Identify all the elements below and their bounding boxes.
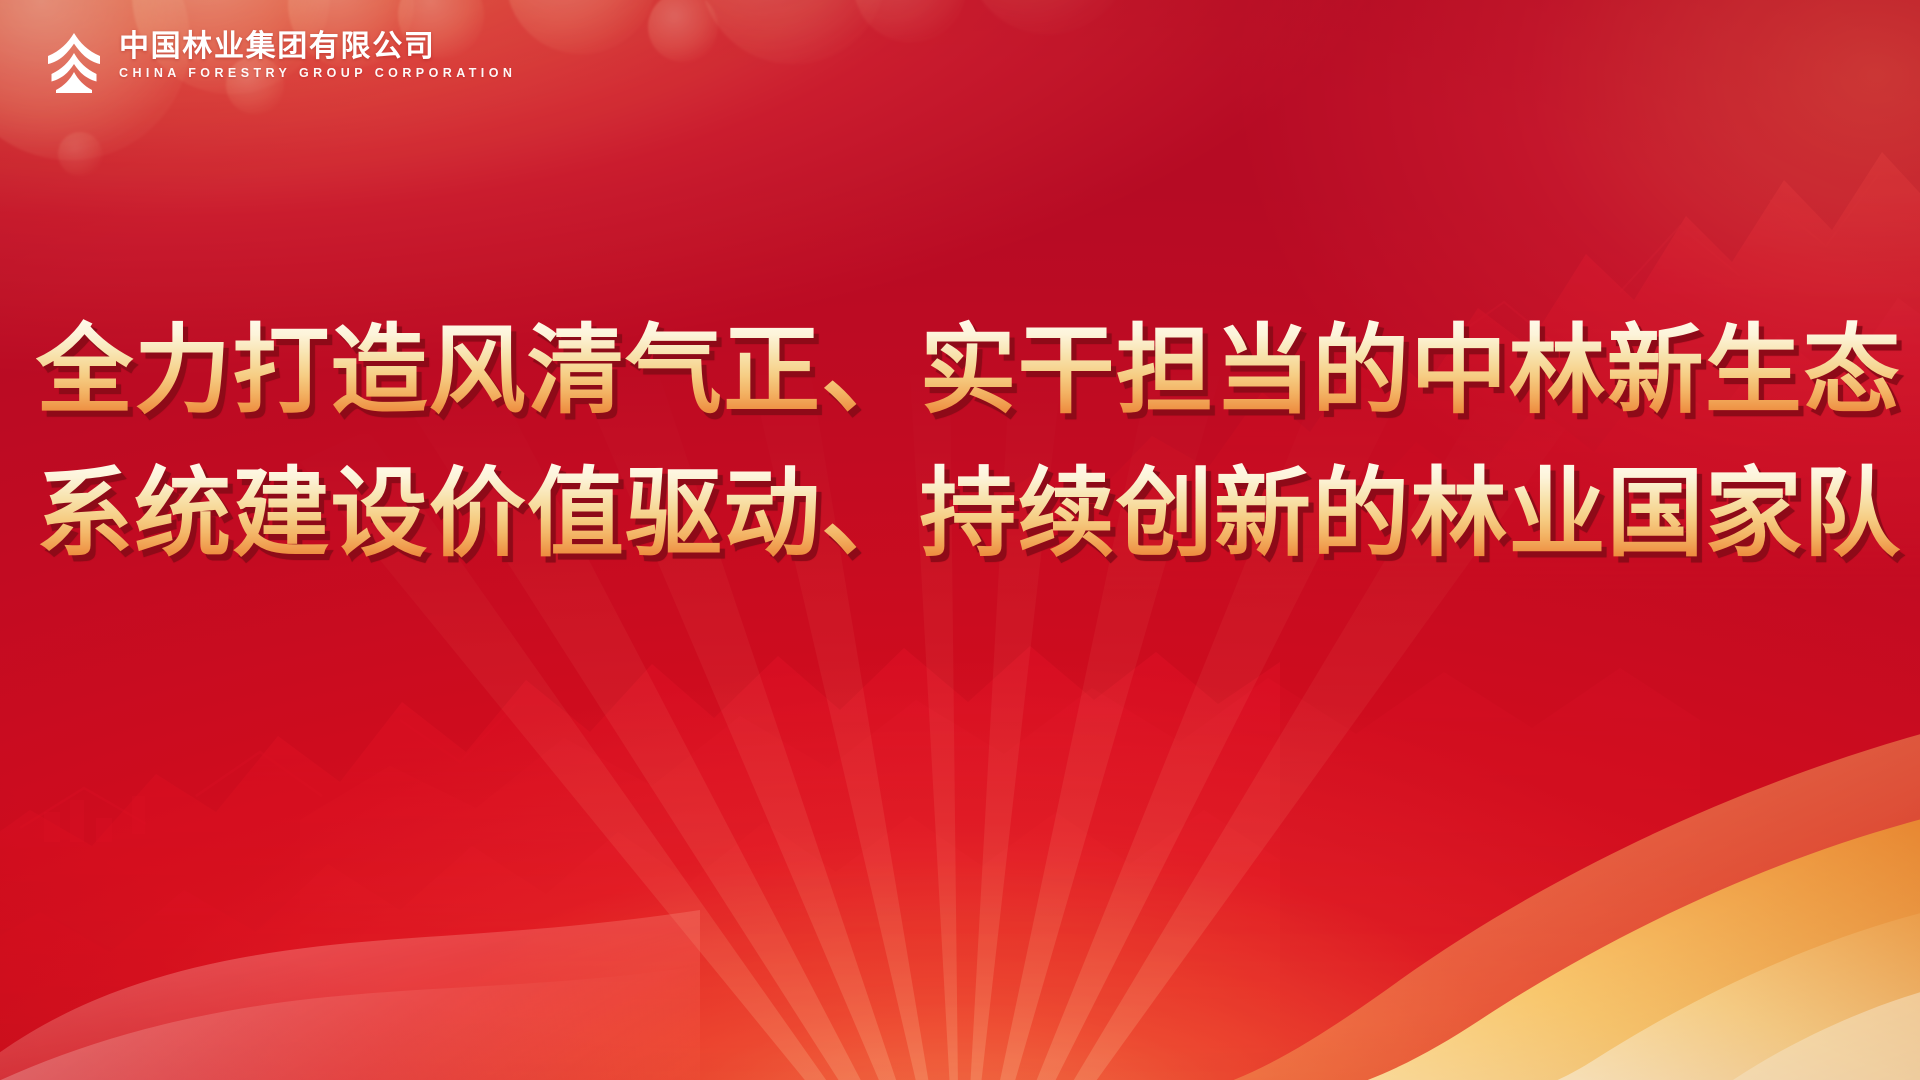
forestry-pagoda-tree-logo-icon — [44, 31, 104, 95]
slogan-line-2: 系统建设价值驱动、持续创新的林业国家队 系统建设价值驱动、持续创新的林业国家队 — [36, 443, 1884, 586]
slogan-headline: 全力打造风清气正、实干担当的中林新生态 全力打造风清气正、实干担当的中林新生态 … — [0, 300, 1920, 585]
slogan-line-1: 全力打造风清气正、实干担当的中林新生态 全力打造风清气正、实干担当的中林新生态 — [36, 300, 1884, 443]
slogan-line-2-text: 系统建设价值驱动、持续创新的林业国家队 — [36, 457, 1901, 570]
slogan-line-1-text: 全力打造风清气正、实干担当的中林新生态 — [36, 314, 1901, 427]
company-name-block: 中国林业集团有限公司 CHINA FORESTRY GROUP CORPORAT… — [119, 28, 516, 80]
banner-stage: 中国林业集团有限公司 CHINA FORESTRY GROUP CORPORAT… — [0, 0, 1920, 1080]
company-logo-lockup[interactable]: 中国林业集团有限公司 CHINA FORESTRY GROUP CORPORAT… — [44, 28, 516, 95]
company-name-en: CHINA FORESTRY GROUP CORPORATION — [119, 67, 516, 80]
company-name-cn: 中国林业集团有限公司 — [119, 32, 516, 62]
